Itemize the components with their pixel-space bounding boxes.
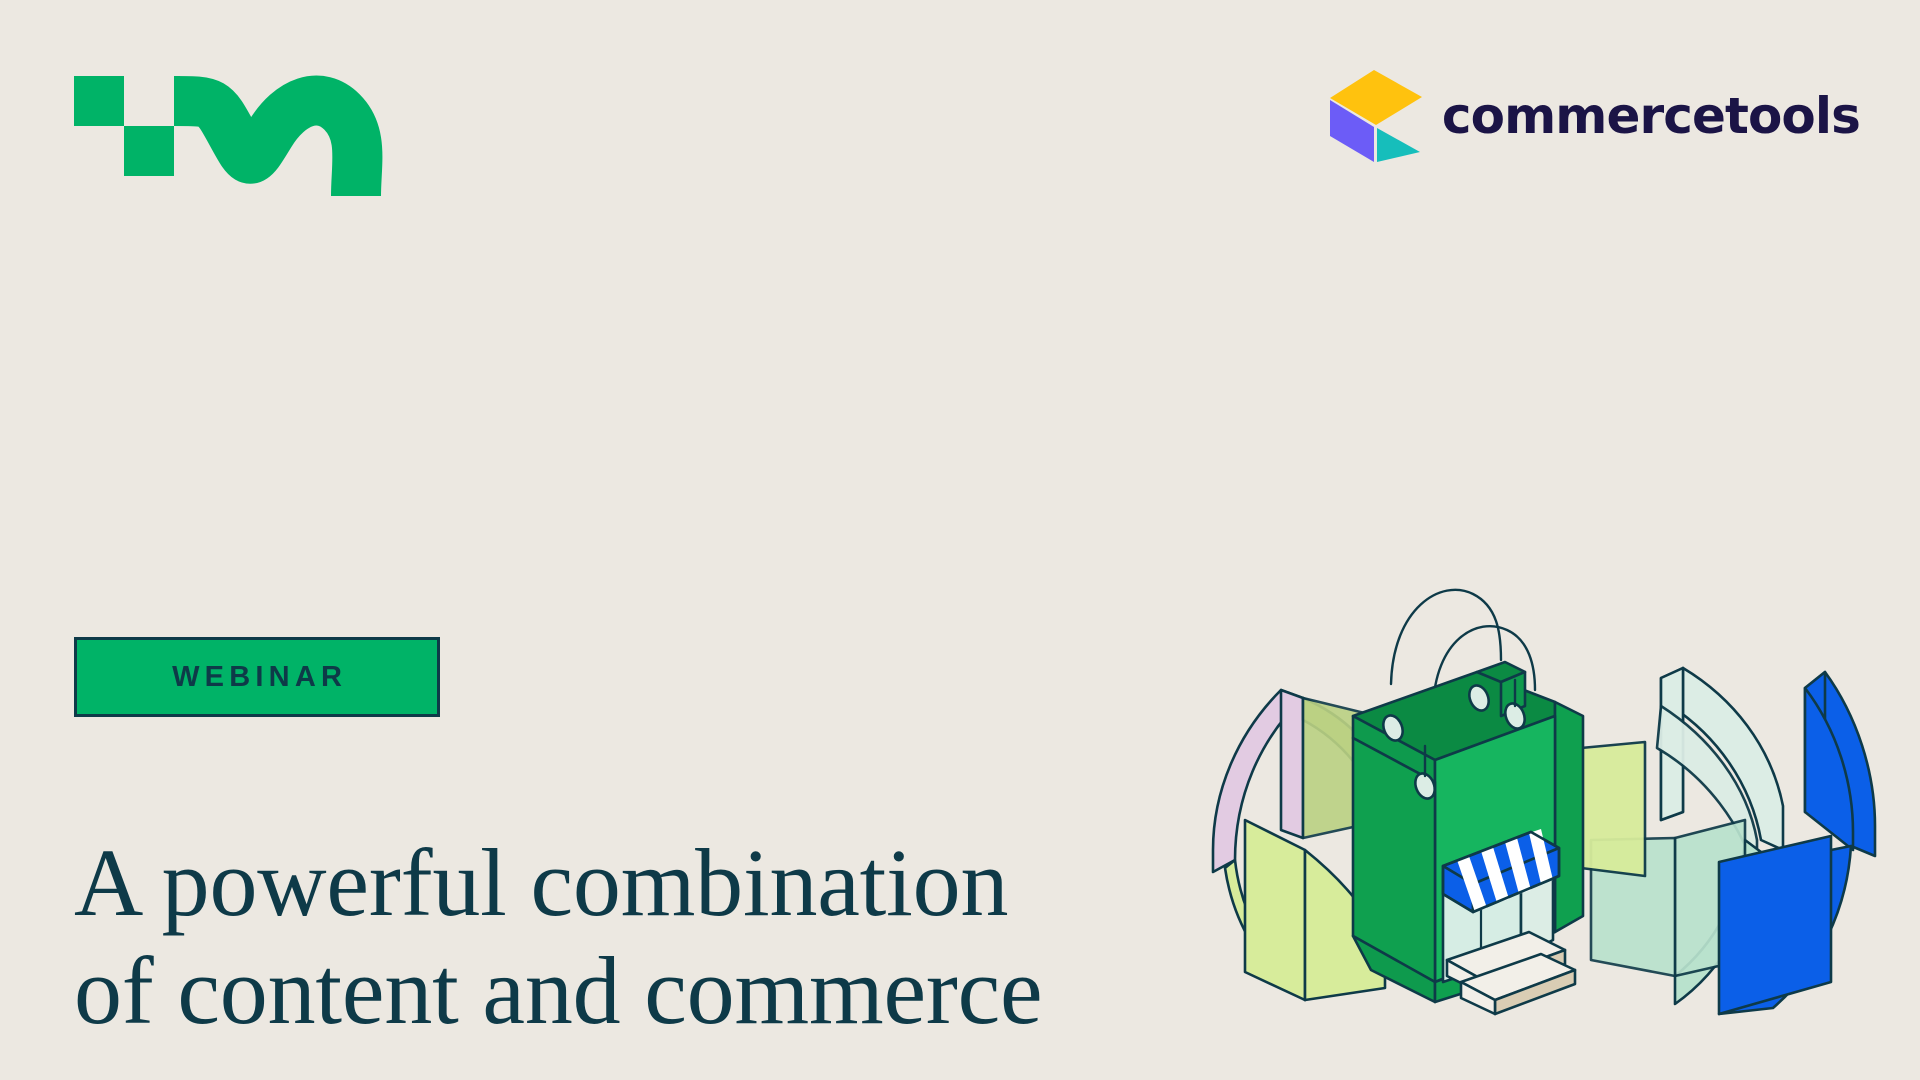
page-title: A powerful combination of content and co… xyxy=(74,829,1214,1044)
partner-wordmark: commercetools xyxy=(1442,91,1860,141)
isometric-shopping-bag-storefront-icon xyxy=(1185,520,1900,1020)
headline-line-2: of content and commerce xyxy=(74,937,1214,1045)
slide-root: commercetools WEBINAR A powerful combina… xyxy=(0,0,1920,1080)
partner-logo[interactable]: commercetools xyxy=(1328,68,1860,164)
headline-line-1: A powerful combination xyxy=(74,829,1214,937)
brand-logo[interactable] xyxy=(74,68,394,196)
hero-illustration xyxy=(1185,520,1900,1020)
webinar-badge-label: WEBINAR xyxy=(167,663,347,692)
commercetools-cube-icon xyxy=(1328,68,1424,164)
webinar-badge: WEBINAR xyxy=(74,637,440,717)
contentful-wave-logo-icon xyxy=(74,68,394,196)
